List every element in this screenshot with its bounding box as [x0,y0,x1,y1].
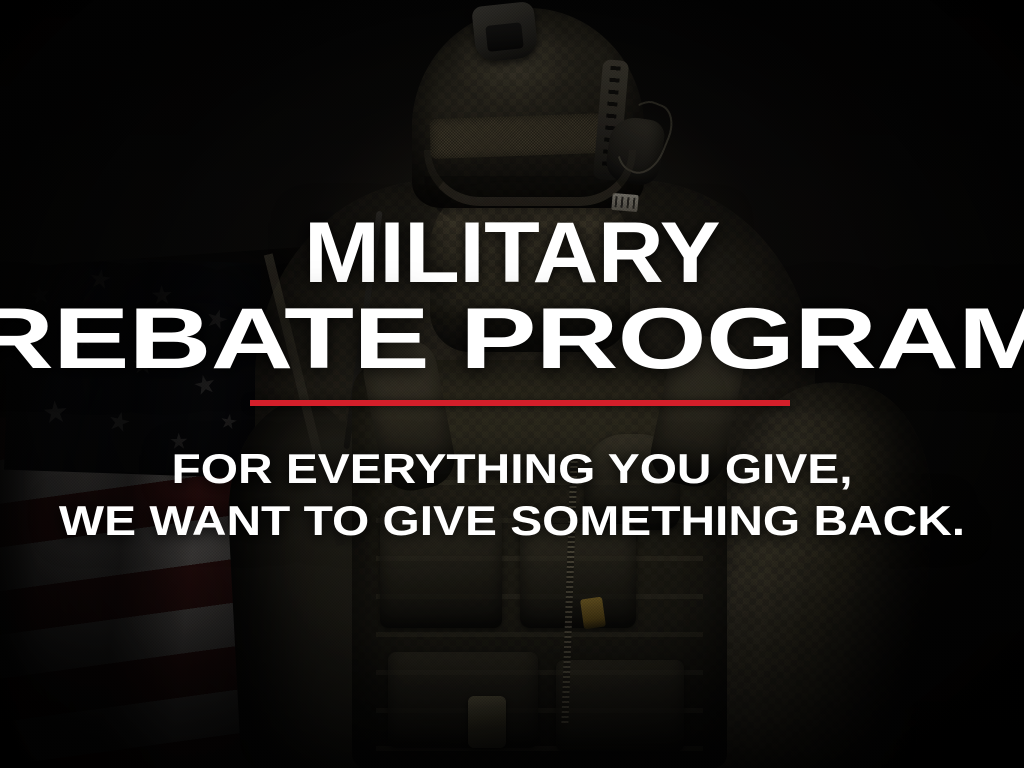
vest-pouch [556,660,684,752]
ir-patch-icon [611,193,638,212]
military-rebate-poster: ★ ★ ★ ★ ★ ★ ★ ★ ★ ★ ★ ★ [0,0,1024,768]
helmet-chinstrap-icon [424,150,636,206]
nvg-mount-icon [471,1,539,63]
vest-pouch [520,524,636,628]
background-photo: ★ ★ ★ ★ ★ ★ ★ ★ ★ ★ ★ ★ [0,0,1024,768]
vest-pull-tab [580,597,606,630]
vest-buckle-icon [468,696,506,748]
vest-pouch [380,510,502,628]
vest-pouch [388,652,538,748]
